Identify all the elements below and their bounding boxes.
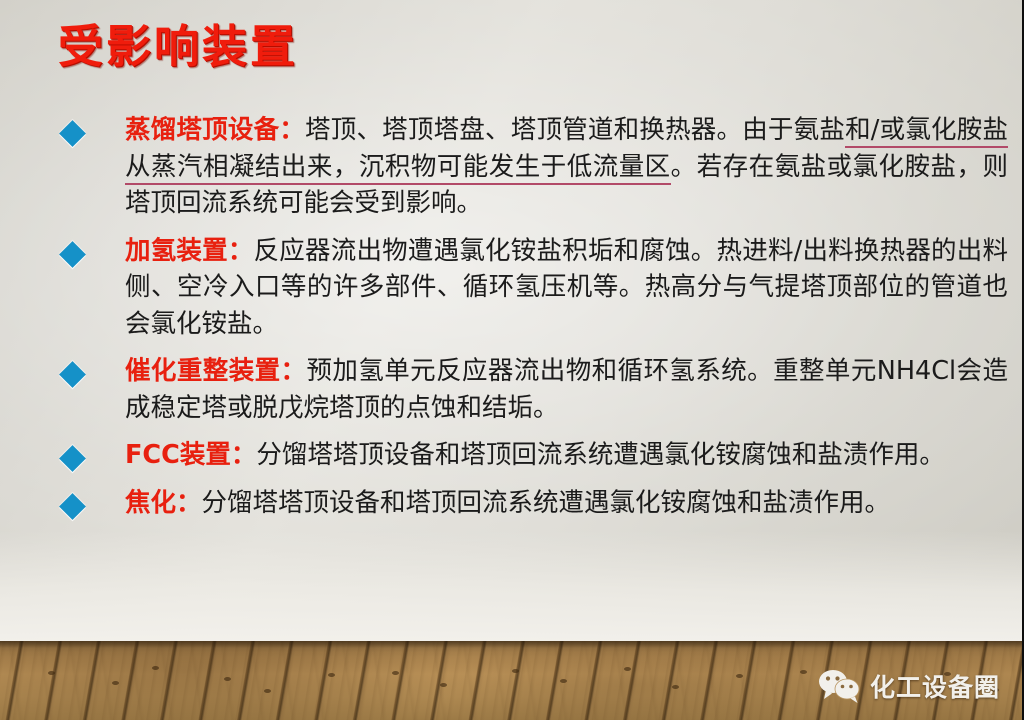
wechat-icon: [817, 668, 861, 704]
list-item: 蒸馏塔顶设备：塔顶、塔顶塔盘、塔顶管道和换热器。由于氨盐和/或氯化胺盐从蒸汽相凝…: [0, 112, 1024, 222]
slide-canvas: 受影响装置 蒸馏塔顶设备：塔顶、塔顶塔盘、塔顶管道和换热器。由于氨盐和/或氯化胺…: [0, 0, 1024, 720]
diamond-bullet-icon: [59, 493, 86, 520]
bullet-text: 焦化：分馏塔塔顶设备和塔顶回流系统遭遇氯化铵腐蚀和盐渍作用。: [125, 485, 1008, 522]
bullet-body-pre: 塔顶、塔顶塔盘、塔顶管道和换热器。由于氨盐: [305, 115, 845, 145]
list-item: 焦化：分馏塔塔顶设备和塔顶回流系统遭遇氯化铵腐蚀和盐渍作用。: [0, 485, 1024, 522]
bullet-body-pre: 反应器流出物遭遇氯化铵盐积垢和腐蚀。热进料/出料换热器的出料侧、空冷入口等的许多…: [125, 236, 1008, 339]
diamond-bullet-icon: [59, 361, 86, 388]
list-item: 催化重整装置：预加氢单元反应器流出物和循环氢系统。重整单元NH4Cl会造成稳定塔…: [0, 353, 1024, 426]
bullet-text: 催化重整装置：预加氢单元反应器流出物和循环氢系统。重整单元NH4Cl会造成稳定塔…: [125, 353, 1008, 426]
bullet-text: 加氢装置：反应器流出物遭遇氯化铵盐积垢和腐蚀。热进料/出料换热器的出料侧、空冷入…: [125, 233, 1008, 343]
watermark: 化工设备圈: [817, 668, 1000, 704]
bullet-lead-label: 焦化：: [125, 488, 202, 518]
list-item: 加氢装置：反应器流出物遭遇氯化铵盐积垢和腐蚀。热进料/出料换热器的出料侧、空冷入…: [0, 233, 1024, 343]
bullet-list: 蒸馏塔顶设备：塔顶、塔顶塔盘、塔顶管道和换热器。由于氨盐和/或氯化胺盐从蒸汽相凝…: [0, 112, 1024, 532]
diamond-bullet-icon: [59, 445, 86, 472]
diamond-bullet-icon: [59, 241, 86, 268]
bullet-lead-label: 加氢装置：: [125, 236, 254, 266]
bullet-lead-label: 蒸馏塔顶设备：: [125, 115, 305, 145]
bullet-body-pre: 分馏塔塔顶设备和塔顶回流系统遭遇氯化铵腐蚀和盐渍作用。: [202, 488, 891, 518]
bullet-text: 蒸馏塔顶设备：塔顶、塔顶塔盘、塔顶管道和换热器。由于氨盐和/或氯化胺盐从蒸汽相凝…: [125, 112, 1008, 222]
page-title: 受影响装置: [58, 24, 298, 69]
list-item: FCC装置：分馏塔塔顶设备和塔顶回流系统遭遇氯化铵腐蚀和盐渍作用。: [0, 437, 1024, 474]
bullet-body-pre: 分馏塔塔顶设备和塔顶回流系统遭遇氯化铵腐蚀和盐渍作用。: [256, 440, 945, 470]
diamond-bullet-icon: [59, 120, 86, 147]
bullet-lead-label: 催化重整装置：: [125, 356, 306, 386]
bullet-lead-label: FCC装置：: [125, 440, 256, 470]
watermark-label: 化工设备圈: [870, 668, 1000, 704]
bullet-text: FCC装置：分馏塔塔顶设备和塔顶回流系统遭遇氯化铵腐蚀和盐渍作用。: [125, 437, 1008, 474]
